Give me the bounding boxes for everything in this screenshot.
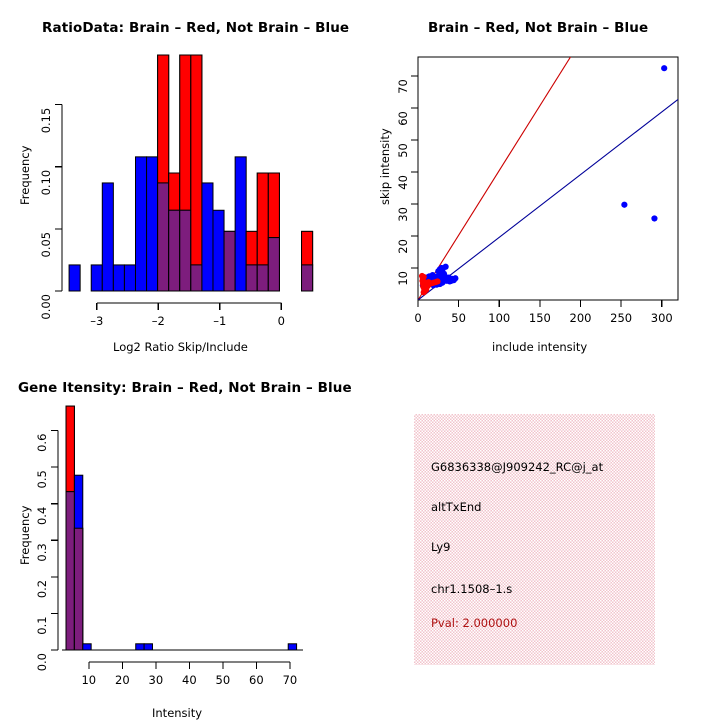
ratio-histogram-ylabel: Frequency [18, 146, 32, 205]
y-tick-label: 0.6 [35, 434, 49, 452]
ratio-bar-blue [124, 265, 135, 291]
y-tick-label: 10 [396, 271, 410, 286]
scatter-point-brain [420, 281, 426, 287]
ratio-bar-overlap [224, 231, 235, 291]
ratio-bar-red-top [158, 55, 169, 183]
ratio-bar-overlap [268, 238, 279, 291]
event-type-text: altTxEnd [431, 500, 481, 514]
scatter-point-not-brain [661, 65, 667, 71]
gene-histogram-plot: 0.00.10.20.30.40.50.610203040506070 [0, 360, 360, 720]
y-tick-label: 60 [396, 111, 410, 126]
x-tick-label: 250 [610, 311, 632, 325]
gene-bar-blue [136, 644, 144, 650]
gene-bar-overlap [66, 492, 74, 650]
ratio-bar-overlap [191, 265, 202, 291]
panel-gene-histogram: Gene Itensity: Brain – Red, Not Brain – … [0, 360, 360, 720]
ratio-bar-blue [202, 183, 213, 291]
gene-bar-red-top [66, 406, 74, 492]
ratio-bar-blue [102, 183, 113, 291]
ratio-bar-blue [91, 265, 102, 291]
ratio-bar-overlap [302, 265, 313, 291]
x-tick-label: 150 [529, 311, 551, 325]
ratio-bar-overlap [169, 210, 180, 291]
x-tick-label: –2 [152, 314, 165, 328]
y-tick-label: 0.10 [39, 170, 53, 196]
ratio-bar-red-top [302, 231, 313, 265]
x-tick-label: –3 [90, 314, 103, 328]
ratio-bar-red-top [180, 55, 191, 210]
ratio-bar-blue [135, 157, 146, 291]
ratio-bar-blue [235, 157, 246, 291]
x-tick-label: 200 [570, 311, 592, 325]
gene-bar-blue [144, 644, 152, 650]
y-tick-label: 0.2 [35, 580, 49, 598]
x-tick-label: 50 [216, 673, 231, 687]
gene-bar-overlap [74, 528, 82, 650]
panel-scatter: Brain – Red, Not Brain – Blue 1020304050… [360, 0, 720, 360]
scatter-ylabel: skip intensity [378, 128, 392, 205]
x-tick-label: 50 [451, 311, 466, 325]
x-tick-label: 40 [182, 673, 197, 687]
x-tick-label: 0 [278, 314, 285, 328]
scatter-point-brain [426, 281, 432, 287]
scatter-point-brain [434, 278, 440, 284]
y-tick-label: 20 [396, 239, 410, 254]
gene-bar-blue [288, 644, 296, 650]
x-tick-label: 0 [414, 311, 421, 325]
scatter-xlabel: include intensity [492, 340, 587, 354]
y-tick-label: 0.4 [35, 507, 49, 525]
y-tick-label: 0.0 [35, 653, 49, 671]
ratio-bar-red-top [191, 55, 202, 265]
fit-line-brain [418, 0, 678, 300]
ratio-histogram-xlabel: Log2 Ratio Skip/Include [113, 340, 248, 354]
ratio-histogram-plot: 0.000.050.100.15–3–2–10 [0, 0, 360, 360]
y-tick-label: 40 [396, 175, 410, 190]
x-tick-label: 100 [488, 311, 510, 325]
pval-text: Pval: 2.000000 [431, 616, 517, 630]
scatter-point-not-brain [438, 265, 444, 271]
scatter-point-not-brain [450, 276, 456, 282]
y-tick-label: 0.1 [35, 616, 49, 634]
ratio-bar-blue [113, 265, 124, 291]
scatter-point-not-brain [621, 202, 627, 208]
y-tick-label: 0.3 [35, 543, 49, 561]
y-tick-label: 0.15 [39, 108, 53, 134]
scatter-data-layer [418, 0, 678, 300]
x-tick-label: 10 [81, 673, 96, 687]
x-tick-label: 60 [249, 673, 264, 687]
ratio-bar-overlap [158, 183, 169, 291]
probe-id-text: G6836338@J909242_RC@j_at [431, 460, 603, 474]
ratio-bar-overlap [246, 265, 257, 291]
y-tick-label: 50 [396, 143, 410, 158]
scatter-plot: 10203040506070050100150200250300 [360, 0, 720, 360]
ratio-bar-red-top [268, 173, 279, 238]
y-tick-label: 30 [396, 207, 410, 222]
x-tick-label: –1 [213, 314, 226, 328]
ratio-bar-blue [147, 157, 158, 291]
figure-canvas: RatioData: Brain – Red, Not Brain – Blue… [0, 0, 720, 720]
gene-histogram-ylabel: Frequency [18, 506, 32, 565]
ratio-bar-red-top [169, 173, 180, 210]
y-tick-label: 70 [396, 79, 410, 94]
gene-histogram-xlabel: Intensity [152, 706, 202, 720]
scatter-point-brain [421, 289, 427, 295]
ratio-bar-blue [213, 210, 224, 291]
panel-ratio-histogram: RatioData: Brain – Red, Not Brain – Blue… [0, 0, 360, 360]
y-tick-label: 0.05 [39, 232, 53, 258]
locus-text: chr1.1508–1.s [431, 582, 512, 596]
y-tick-label: 0.5 [35, 470, 49, 488]
ratio-bar-blue [69, 265, 80, 291]
x-tick-label: 30 [149, 673, 164, 687]
y-tick-label: 0.00 [39, 294, 53, 320]
fit-line-not-brain [418, 99, 678, 300]
gene-symbol-text: Ly9 [431, 540, 450, 554]
ratio-bar-overlap [257, 265, 268, 291]
x-tick-label: 70 [283, 673, 298, 687]
gene-bar-blue [83, 644, 91, 650]
ratio-bar-red-top [246, 231, 257, 265]
panel-info: G6836338@J909242_RC@j_at altTxEnd Ly9 ch… [360, 360, 720, 720]
scatter-point-not-brain [651, 215, 657, 221]
x-tick-label: 300 [651, 311, 673, 325]
x-tick-label: 20 [115, 673, 130, 687]
ratio-bar-overlap [180, 210, 191, 291]
ratio-bar-red-top [257, 173, 268, 265]
